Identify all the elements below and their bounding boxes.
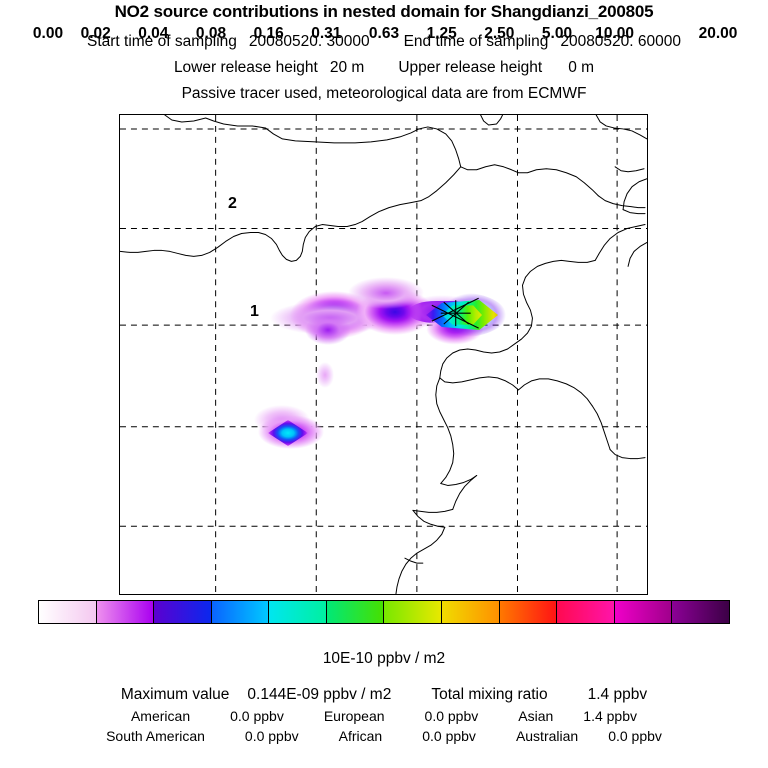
colorbar-unit-label: 10E-10 ppbv / m2 [0,650,768,668]
statistics-block: Maximum value0.144E-09 ppbv / m2Total mi… [0,686,768,748]
colorbar-segment [153,601,211,623]
colorbar-segment [96,601,154,623]
colorbar-tick-7: 1.25 [427,25,457,43]
colorbar [38,600,730,624]
stats-row-regions-1: American0.0 ppbvEuropean0.0 ppbvAsian1.4… [0,708,768,724]
region-value-european: 0.0 ppbv [425,708,479,724]
colorbar-tick-labels: 0.000.020.040.080.160.310.631.252.505.00… [0,25,768,45]
colorbar-segment [441,601,499,623]
colorbar-segment [326,601,384,623]
tracer-note: Passive tracer used, meteorological data… [0,85,768,103]
colorbar-tick-1: 0.02 [81,25,111,43]
region-value-south-american: 0.0 ppbv [245,728,299,744]
colorbar-tick-6: 0.63 [369,25,399,43]
region-value-asian: 1.4 ppbv [583,708,637,724]
lower-release-height-label: Lower release height [174,59,318,76]
colorbar-tick-3: 0.08 [196,25,226,43]
domain-label-2: 2 [228,195,237,213]
colorbar-tick-2: 0.04 [138,25,168,43]
colorbar-tick-4: 0.16 [254,25,284,43]
colorbar-tick-9: 5.00 [542,25,572,43]
lower-release-height-value: 20 m [330,59,364,76]
region-value-australian: 0.0 ppbv [608,728,662,744]
colorbar-segment [211,601,269,623]
domain-label-1: 1 [250,303,259,321]
region-value-american: 0.0 ppbv [230,708,284,724]
total-mixing-ratio-label: Total mixing ratio [431,686,547,703]
upper-release-height-label: Upper release height [398,59,542,76]
region-value-african: 0.0 ppbv [422,728,476,744]
colorbar-tick-5: 0.31 [311,25,341,43]
colorbar-tick-0: 0.00 [33,25,63,43]
region-label-australian: Australian [516,728,578,744]
stats-row-regions-2: South American0.0 ppbvAfrican0.0 ppbvAus… [0,728,768,744]
region-label-south-american: South American [106,728,205,744]
colorbar-segment [383,601,441,623]
region-label-american: American [131,708,190,724]
region-label-african: African [339,728,383,744]
region-label-asian: Asian [518,708,553,724]
map-plot-area: 2 1 [119,114,648,595]
colorbar-segment [614,601,672,623]
colorbar-segment [671,601,729,623]
colorbar-segment [39,601,96,623]
page-title: NO2 source contributions in nested domai… [0,2,768,22]
total-mixing-ratio-value: 1.4 ppbv [588,686,647,703]
upper-release-height-value: 0 m [568,59,594,76]
colorbar-tick-10: 10.00 [595,25,634,43]
maximum-value-label: Maximum value [121,686,230,703]
maximum-value: 0.144E-09 ppbv / m2 [247,686,391,703]
release-height-line: Lower release height20 mUpper release he… [0,59,768,77]
colorbar-tick-11: 20.00 [699,25,738,43]
region-label-european: European [324,708,385,724]
colorbar-segment [499,601,557,623]
colorbar-gradient-strip [38,600,730,624]
colorbar-segment [556,601,614,623]
colorbar-segment [268,601,326,623]
stats-row-summary: Maximum value0.144E-09 ppbv / m2Total mi… [0,686,768,704]
colorbar-tick-8: 2.50 [484,25,514,43]
